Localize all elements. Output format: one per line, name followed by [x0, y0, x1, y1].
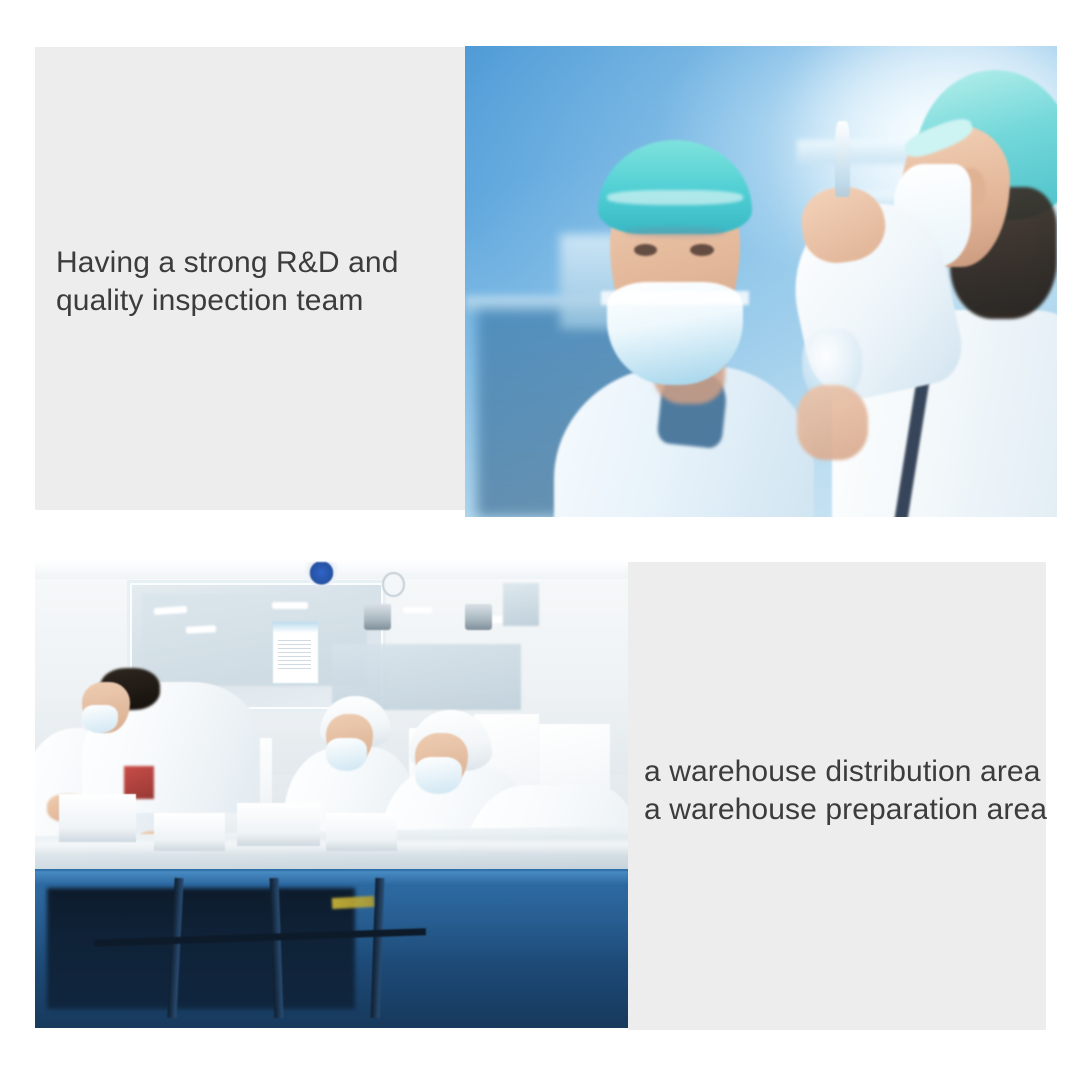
flat-carton-2	[237, 803, 320, 846]
flat-carton-1	[59, 794, 136, 842]
bottom-caption-line-2: a warehouse preparation area	[644, 791, 1044, 829]
top-caption-line-2: quality inspection team	[56, 282, 456, 320]
lab-quality-inspection-photo	[465, 46, 1057, 517]
steel-container-1	[364, 604, 391, 630]
lab-scene	[465, 46, 1057, 517]
worker-4-face-mask	[415, 757, 462, 794]
technician-a-mask-band	[601, 291, 749, 305]
worker-2-face-mask	[82, 705, 118, 733]
technician-a-eye-right	[690, 244, 714, 256]
top-caption: Having a strong R&D and quality inspecti…	[56, 244, 456, 320]
warehouse-packing-photo	[35, 560, 628, 1028]
table-blue-rail	[35, 871, 628, 886]
ceiling-lamp-4	[403, 607, 433, 614]
sample-vial	[835, 121, 850, 196]
worker-3-face-mask	[326, 738, 368, 771]
ceiling-lamp-2	[186, 625, 216, 634]
blue-circular-sign	[305, 562, 338, 586]
wall-clock	[382, 572, 405, 598]
under-table-shadow	[47, 888, 355, 1010]
bottom-caption-line-1: a warehouse distribution area	[644, 753, 1044, 791]
ceiling-lamp-3	[272, 602, 308, 609]
technician-a-eyewear	[625, 227, 726, 236]
yellow-floor-marking	[331, 896, 373, 909]
bottom-caption: a warehouse distribution area a warehous…	[644, 753, 1044, 829]
wall-notice-text	[278, 640, 311, 673]
flat-carton-3	[154, 813, 225, 851]
wall-cabinet	[503, 583, 539, 625]
steel-container-2	[465, 604, 492, 630]
technician-a-cap-band	[607, 190, 743, 205]
technician-b-fingers	[797, 385, 868, 460]
warehouse-scene	[35, 560, 628, 1028]
flat-carton-4	[326, 813, 397, 851]
top-caption-line-1: Having a strong R&D and	[56, 244, 456, 282]
